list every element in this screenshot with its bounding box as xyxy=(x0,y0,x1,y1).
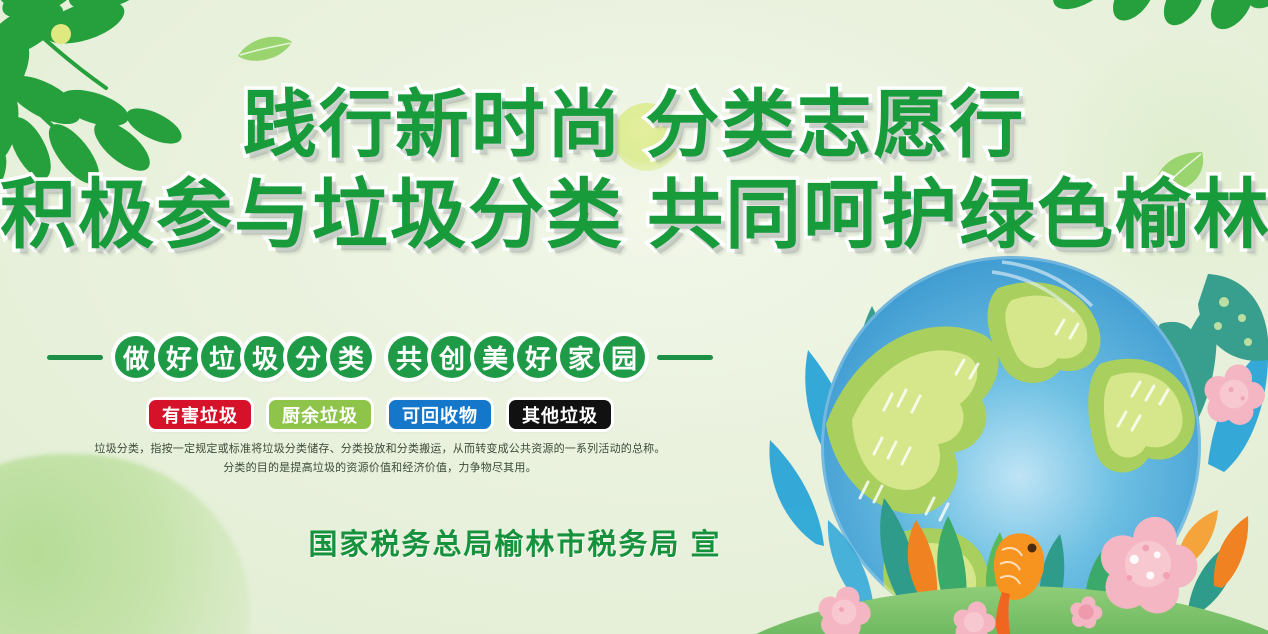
flower-icons xyxy=(819,364,1265,634)
top-right-leaves-decoration xyxy=(978,0,1268,95)
subtitle-char: 做 xyxy=(115,336,157,378)
description-line-1: 垃圾分类，指按一定规定或标准将垃圾分类储存、分类投放和分类搬运，从而转变成公共资… xyxy=(0,440,760,459)
leaf-icon xyxy=(236,34,294,68)
earth-illustration xyxy=(756,214,1268,634)
waste-category-tag-row: 有害垃圾厨余垃圾可回收物其他垃圾 xyxy=(0,400,760,429)
poster-canvas: 践行新时尚 分类志愿行 积极参与垃圾分类 共同呵护绿色榆林 做好垃圾分类共创美好… xyxy=(0,0,1268,634)
subtitle-text: 做好垃圾分类共创美好家园 xyxy=(115,336,645,378)
tag-kitchen-waste[interactable]: 厨余垃圾 xyxy=(269,400,371,429)
subtitle-char: 共 xyxy=(388,336,430,378)
back-foliage xyxy=(769,274,1268,546)
subtitle-char: 圾 xyxy=(244,336,286,378)
issuer-line: 国家税务总局榆林市税务局 宣 xyxy=(0,521,1030,563)
globe xyxy=(821,256,1201,634)
subtitle-char: 家 xyxy=(560,336,602,378)
leaf-cluster-icon xyxy=(978,0,1268,90)
description-paragraph: 垃圾分类，指按一定规定或标准将垃圾分类储存、分类投放和分类搬运，从而转变成公共资… xyxy=(0,440,760,479)
subtitle-strip: 做好垃圾分类共创美好家园 xyxy=(0,336,760,378)
tag-recyclable[interactable]: 可回收物 xyxy=(389,400,491,429)
subtitle-char: 园 xyxy=(603,336,645,378)
hill-shape xyxy=(756,586,1268,634)
subtitle-char: 类 xyxy=(330,336,372,378)
earth-globe-illustration xyxy=(756,214,1268,634)
tag-other-waste[interactable]: 其他垃圾 xyxy=(509,400,611,429)
description-line-2: 分类的目的是提高垃圾的资源价值和经济价值，力争物尽其用。 xyxy=(0,459,760,478)
headline-block: 践行新时尚 分类志愿行 积极参与垃圾分类 共同呵护绿色榆林 xyxy=(0,86,1268,257)
subtitle-char: 美 xyxy=(474,336,516,378)
subtitle-char: 好 xyxy=(158,336,200,378)
subtitle-char: 创 xyxy=(431,336,473,378)
tag-hazardous-waste[interactable]: 有害垃圾 xyxy=(149,400,251,429)
title-line-1: 践行新时尚 分类志愿行 xyxy=(0,86,1268,164)
subtitle-dash-left xyxy=(47,355,103,360)
subtitle-char: 分 xyxy=(287,336,329,378)
subtitle-dash-right xyxy=(657,355,713,360)
subtitle-char: 好 xyxy=(517,336,559,378)
title-line-2: 积极参与垃圾分类 共同呵护绿色榆林 xyxy=(0,176,1268,257)
floating-leaf-a xyxy=(236,34,294,73)
subtitle-char: 垃 xyxy=(201,336,243,378)
